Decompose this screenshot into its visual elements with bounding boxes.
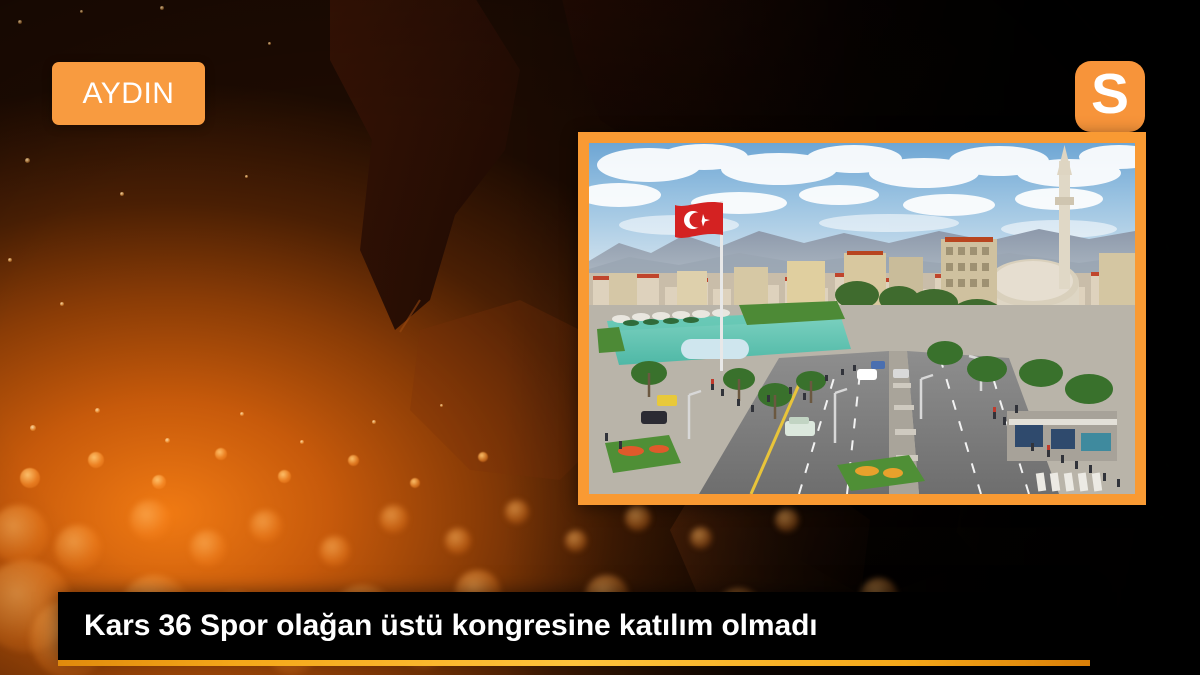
headline-underline <box>58 660 1090 666</box>
city-badge: AYDIN <box>52 62 205 125</box>
page-title: Kars 36 Spor olağan üstü kongresine katı… <box>58 609 818 643</box>
brand-s-logo[interactable]: S <box>1075 61 1145 132</box>
photo-card[interactable] <box>578 132 1146 505</box>
news-card-canvas: AYDIN S <box>0 0 1200 675</box>
city-badge-label: AYDIN <box>83 77 175 111</box>
city-photo-icon <box>589 143 1135 494</box>
headline-bar: Kars 36 Spor olağan üstü kongresine katı… <box>58 592 1090 660</box>
brand-logo-letter: S <box>1091 66 1129 123</box>
city-photo <box>589 143 1135 494</box>
